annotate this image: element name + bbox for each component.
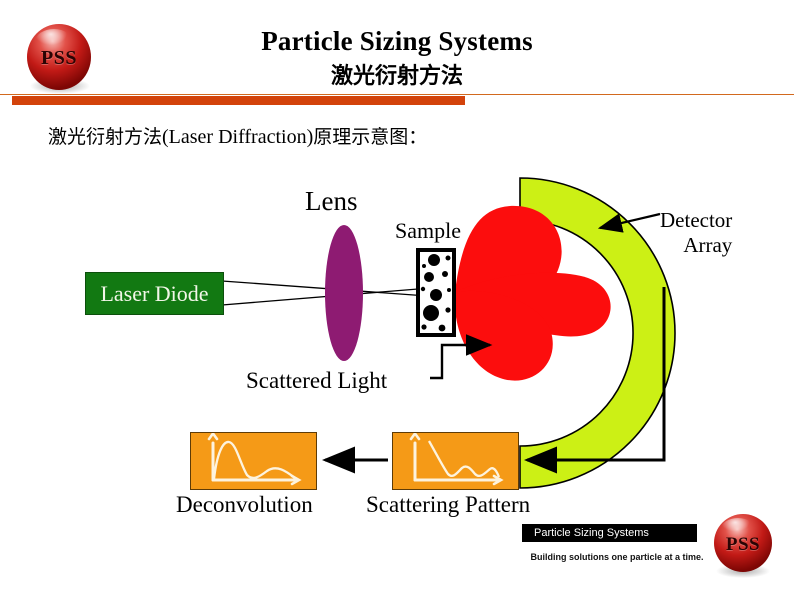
detector-array-label-line1: Detector [660, 208, 732, 233]
sample-cell [418, 250, 454, 335]
sample-label: Sample [395, 218, 461, 244]
footer-pss-logo: PSS [708, 512, 778, 578]
footer-company-name: Particle Sizing Systems [522, 527, 649, 539]
footer-company-bar: Particle Sizing Systems [522, 524, 697, 542]
scattering-pattern-label: Scattering Pattern [366, 492, 530, 518]
scattering-pattern-box [392, 432, 519, 490]
subtitle-cn-suffix: 原理示意图： [313, 126, 427, 148]
subtitle-latin: (Laser Diffraction) [162, 126, 313, 148]
header-divider-thick [12, 96, 465, 105]
deconvolution-label: Deconvolution [176, 492, 313, 518]
laser-diode-box: Laser Diode [85, 272, 224, 315]
scattering-pattern-curve-icon [393, 433, 518, 489]
footer-tagline: Building solutions one particle at a tim… [527, 552, 707, 562]
subtitle-line: 激光衍射方法(Laser Diffraction)原理示意图： [48, 122, 427, 149]
header-divider-thin [0, 94, 794, 95]
lens-label: Lens [305, 186, 357, 217]
page-title-en: Particle Sizing Systems [0, 26, 794, 57]
deconvolution-curve-icon [191, 433, 316, 489]
scattered-light-label: Scattered Light [246, 368, 387, 394]
deconvolution-box [190, 432, 317, 490]
detector-array-label-line2: Array [660, 233, 732, 258]
slide-canvas: PSS Particle Sizing Systems 激光衍射方法 激光衍射方… [0, 0, 794, 594]
detector-array-label: Detector Array [660, 208, 732, 258]
page-title-cn: 激光衍射方法 [0, 58, 794, 90]
footer-logo-text: PSS [708, 512, 778, 578]
subtitle-cn-prefix: 激光衍射方法 [48, 126, 162, 148]
laser-diode-label: Laser Diode [100, 281, 208, 307]
laser-diffraction-diagram: Laser Diode [0, 150, 794, 550]
lens-ellipse [325, 225, 363, 361]
